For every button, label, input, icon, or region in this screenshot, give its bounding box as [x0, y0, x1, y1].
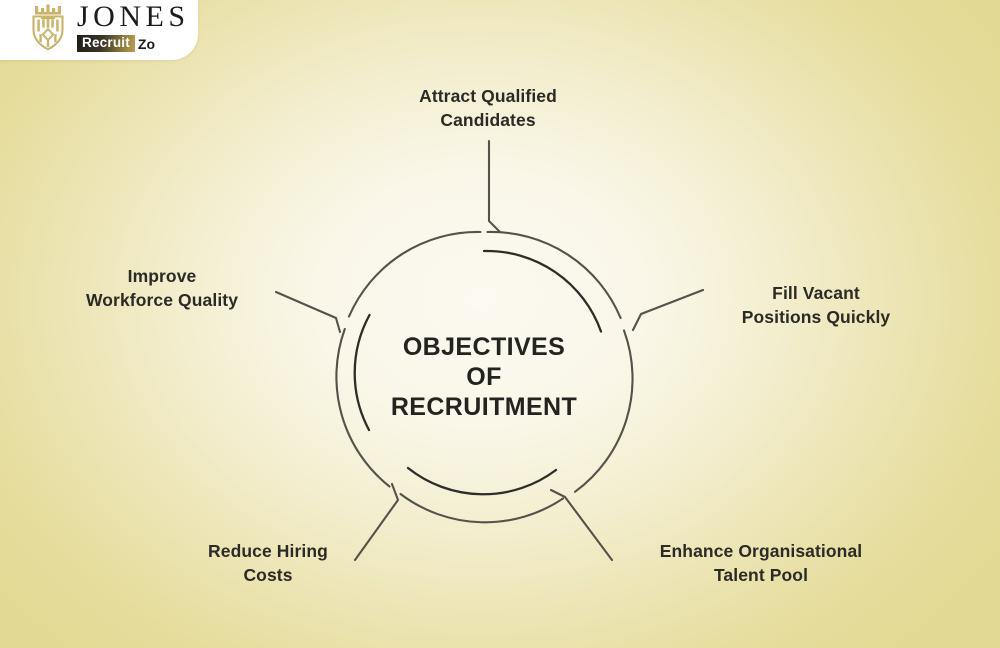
connector-fill-vacant-positions-quickly	[633, 290, 703, 330]
node-label-line-1: Reduce Hiring	[168, 539, 368, 563]
node-label-line-2: Candidates	[372, 108, 604, 132]
logo-zo-text: Zo	[138, 37, 155, 51]
node-label-line-1: Attract Qualified	[372, 84, 604, 108]
ring-arc-bottom	[401, 494, 564, 522]
center-title: OBJECTIVES OF RECRUITMENT	[350, 333, 618, 422]
inner-arc-bottom	[408, 468, 556, 494]
node-label-line-2: Positions Quickly	[716, 305, 916, 329]
logo-text-block: JONES Recruit Zo	[77, 2, 190, 53]
inner-arc-top	[484, 251, 601, 332]
node-label-line-2: Talent Pool	[616, 563, 906, 587]
node-label-line-1: Enhance Organisational	[616, 539, 906, 563]
node-label-fill-vacant-positions-quickly: Fill Vacant Positions Quickly	[716, 281, 916, 329]
node-label-attract-qualified-candidates: Attract Qualified Candidates	[372, 84, 604, 132]
node-label-line-1: Fill Vacant	[716, 281, 916, 305]
connector-attract-qualified-candidates	[489, 141, 500, 232]
logo-wordmark: JONES	[77, 2, 190, 32]
logo-recruit-badge: Recruit	[77, 35, 135, 53]
logo-subline: Recruit Zo	[77, 35, 155, 53]
brand-logo-card[interactable]: JONES Recruit Zo	[0, 0, 198, 60]
ring-arc-left-top	[349, 232, 481, 317]
center-title-line-2: OF	[350, 363, 618, 393]
jones-crest-icon	[28, 4, 68, 50]
node-label-line-2: Workforce Quality	[54, 288, 270, 312]
center-title-line-1: OBJECTIVES	[350, 333, 618, 363]
node-label-reduce-hiring-costs: Reduce Hiring Costs	[168, 539, 368, 587]
infographic-canvas: OBJECTIVES OF RECRUITMENT Attract Qualif…	[0, 0, 1000, 648]
center-title-line-3: RECRUITMENT	[350, 393, 618, 423]
node-label-line-1: Improve	[54, 264, 270, 288]
ring-arc-top-right	[487, 232, 620, 318]
node-label-line-2: Costs	[168, 563, 368, 587]
connector-improve-workforce-quality	[276, 292, 340, 332]
node-label-enhance-organisational-talent-pool: Enhance Organisational Talent Pool	[616, 539, 906, 587]
node-label-improve-workforce-quality: Improve Workforce Quality	[54, 264, 270, 312]
